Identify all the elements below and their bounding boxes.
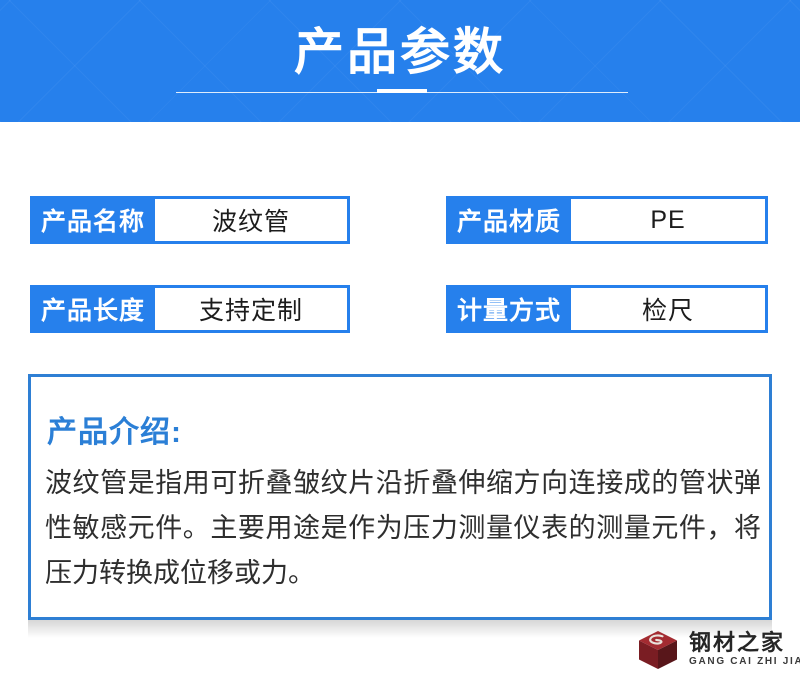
header-divider-accent	[377, 89, 427, 93]
spec-item-product-material: 产品材质 PE	[446, 196, 768, 244]
spec-row: 产品名称 波纹管 产品材质 PE	[0, 196, 800, 285]
spec-grid: 产品名称 波纹管 产品材质 PE 产品长度 支持定制 计量方式 检尺	[0, 196, 800, 374]
footer-brand-logo: 钢材之家 GANG CAI ZHI JIA	[636, 628, 800, 672]
spec-row: 产品长度 支持定制 计量方式 检尺	[0, 285, 800, 374]
spec-value: 检尺	[571, 288, 765, 330]
product-introduction-panel: 产品介绍: 波纹管是指用可折叠皱纹片沿折叠伸缩方向连接成的管状弹性敏感元件。主要…	[28, 374, 772, 620]
header-banner: 产品参数	[0, 0, 800, 122]
spec-item-product-length: 产品长度 支持定制	[30, 285, 350, 333]
page-title: 产品参数	[0, 23, 800, 81]
logo-chinese-name: 钢材之家	[689, 631, 800, 655]
intro-heading: 产品介绍:	[47, 407, 182, 451]
spec-item-measurement-method: 计量方式 检尺	[446, 285, 768, 333]
logo-text-block: 钢材之家 GANG CAI ZHI JIA	[689, 631, 800, 669]
intro-body-text: 波纹管是指用可折叠皱纹片沿折叠伸缩方向连接成的管状弹性敏感元件。主要用途是作为压…	[45, 461, 761, 596]
cube-logo-icon	[636, 628, 680, 672]
spec-value: 支持定制	[155, 288, 347, 330]
spec-value: 波纹管	[155, 199, 347, 241]
spec-label: 产品名称	[31, 197, 155, 243]
spec-item-product-name: 产品名称 波纹管	[30, 196, 350, 244]
spec-label: 产品材质	[447, 197, 571, 243]
spec-label: 计量方式	[447, 286, 571, 332]
logo-pinyin-name: GANG CAI ZHI JIA	[689, 655, 800, 669]
product-parameters-page: 产品参数 产品名称 波纹管 产品材质 PE 产品长度 支持定制 计量方式 检尺	[0, 0, 800, 681]
spec-label: 产品长度	[31, 286, 155, 332]
spec-value: PE	[571, 199, 765, 241]
